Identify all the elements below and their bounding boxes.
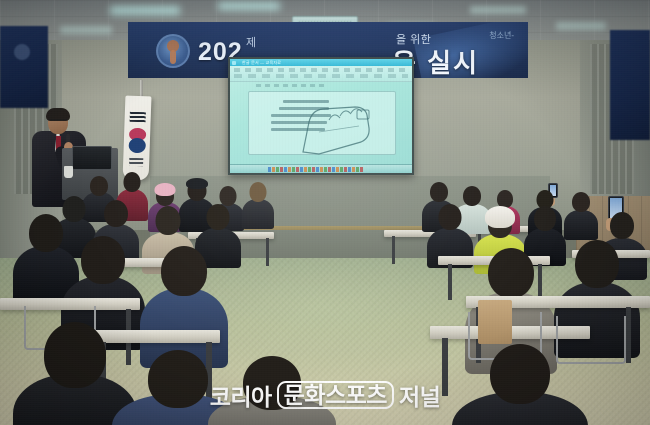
taskbar-icons [268, 167, 364, 172]
person-head [161, 246, 207, 296]
audience-member [432, 204, 468, 262]
tote-bag [478, 300, 512, 344]
person-head [534, 206, 556, 231]
person-head [124, 172, 141, 192]
person-torso [564, 210, 598, 240]
person-head [81, 236, 125, 284]
window-icon [232, 61, 236, 65]
ceiling-light-panel [470, 6, 526, 14]
podium-monitor [72, 146, 112, 170]
projected-ruler [256, 84, 326, 87]
person-head [220, 186, 237, 206]
person-head [243, 356, 301, 410]
projected-document-page [248, 91, 396, 155]
audience-member [244, 182, 272, 226]
projected-taskbar [230, 164, 412, 173]
flag-trigram-bottom [129, 158, 143, 166]
right-navy-banner [610, 30, 650, 140]
audience-member-foreground [224, 356, 320, 425]
person-head [439, 204, 462, 230]
person-head [572, 192, 590, 212]
desk-leg [442, 338, 448, 396]
flag-trigram-top [130, 112, 146, 123]
projection-screen-frame: 한글 문서 — 교육자료 [228, 57, 414, 175]
desk-leg [626, 307, 631, 363]
lecture-hall-photo: 202 제 을 위한 청소년‑ 육 실시 한글 문서 — 교육자료 [0, 0, 650, 425]
person-head [463, 186, 481, 206]
flag-taeguk-blue [128, 138, 146, 154]
left-navy-banner [0, 26, 48, 108]
person-head [156, 206, 181, 235]
person-head [104, 200, 128, 227]
desk-leg [392, 236, 395, 264]
knit-hat [155, 183, 176, 196]
person-head [430, 182, 448, 202]
person-head [490, 344, 550, 404]
person-head [44, 322, 106, 388]
ceiling-light-panel [110, 6, 180, 15]
ceiling-light-panel [556, 22, 606, 30]
banner-emblem-icon [14, 44, 30, 60]
paper-cup [64, 166, 73, 178]
desk-leg [448, 264, 452, 300]
person-head [488, 248, 534, 298]
person-head [148, 350, 208, 408]
glasses-icon [49, 119, 67, 123]
audience-member-foreground [470, 344, 570, 425]
person-head [29, 214, 63, 252]
hand-drawn-diagram [299, 102, 377, 158]
audience-member-foreground [30, 322, 120, 425]
projection-screen: 한글 문서 — 교육자료 [230, 59, 412, 173]
person-head [207, 204, 230, 230]
ceiling-light-panel [60, 26, 112, 34]
desk-leg [266, 238, 269, 266]
audience-member [20, 214, 72, 300]
white-knit-hat [485, 206, 515, 228]
person-head [575, 240, 619, 288]
person-head [610, 212, 634, 239]
banner-secondary-text: 청소년‑ [489, 30, 514, 41]
organization-emblem-icon [156, 34, 190, 68]
banner-prefix-text: 제 [246, 34, 256, 50]
toolbar-icon-row [234, 74, 408, 78]
projected-toolbar [230, 66, 412, 82]
ceiling-light-panel [218, 2, 280, 10]
toolbar-icon-row [234, 68, 408, 72]
audience-member [566, 192, 596, 236]
korean-flag [123, 96, 152, 181]
cap [186, 178, 208, 189]
person-head [90, 176, 108, 196]
person-torso [242, 199, 274, 229]
projected-window-titlebar: 한글 문서 — 교육자료 [230, 59, 412, 66]
person-head [250, 182, 267, 202]
